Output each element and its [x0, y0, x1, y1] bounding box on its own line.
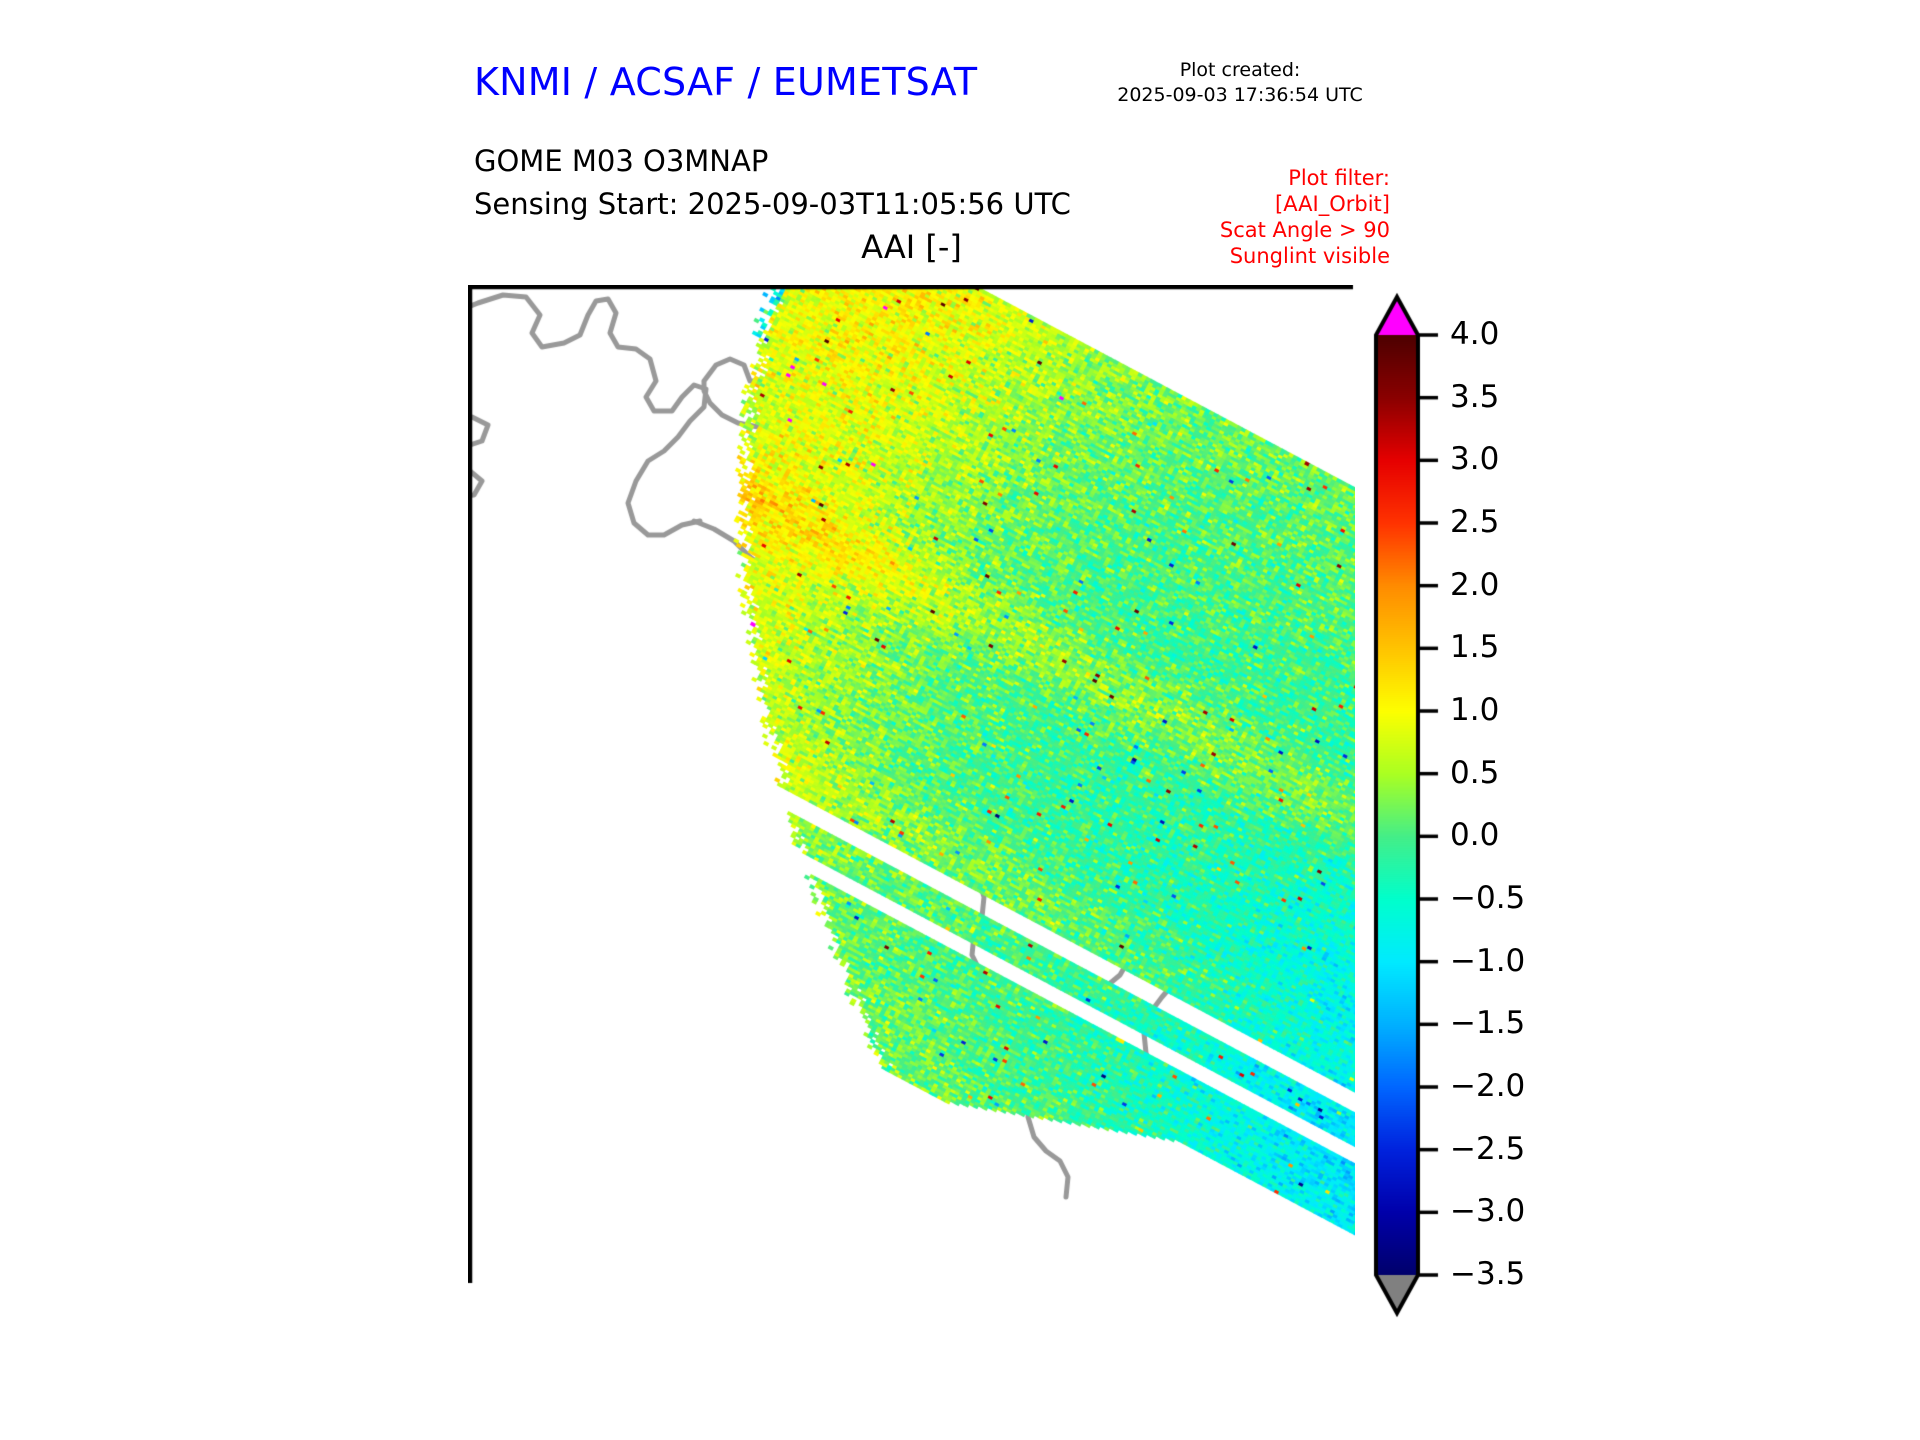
organisation-title: KNMI / ACSAF / EUMETSAT [474, 60, 977, 104]
colorbar: 4.03.53.02.52.01.51.00.50.0−0.5−1.0−1.5−… [1368, 290, 1768, 1365]
colorbar-tick-label: 0.0 [1450, 820, 1499, 851]
dataset-name: GOME M03 O3MNAP [474, 140, 1071, 183]
map-panel [468, 285, 1355, 1285]
plot-created-block: Plot created: 2025-09-03 17:36:54 UTC [1090, 58, 1390, 108]
colorbar-tick-label: 2.5 [1450, 507, 1499, 538]
plot-created-label: Plot created: [1090, 58, 1390, 83]
colorbar-tick-label: −2.5 [1450, 1134, 1525, 1165]
colorbar-tick-label: −2.0 [1450, 1071, 1525, 1102]
colorbar-tick-label: 1.5 [1450, 632, 1499, 663]
dataset-info-block: GOME M03 O3MNAP Sensing Start: 2025-09-0… [474, 140, 1071, 226]
colorbar-tick-label: −3.0 [1450, 1196, 1525, 1227]
colorbar-tick-label: 2.0 [1450, 570, 1499, 601]
plot-filter-name: [AAI_Orbit] [1110, 191, 1390, 217]
colorbar-gradient [1368, 290, 1768, 1365]
colorbar-tick-label: −1.0 [1450, 946, 1525, 977]
colorbar-tick-label: 1.0 [1450, 695, 1499, 726]
colorbar-tick-label: −0.5 [1450, 883, 1525, 914]
plot-filter-label: Plot filter: [1110, 165, 1390, 191]
page-title: AAI [-] [468, 228, 1355, 266]
colorbar-tick-label: −1.5 [1450, 1008, 1525, 1039]
colorbar-tick-label: 0.5 [1450, 758, 1499, 789]
sensing-start: Sensing Start: 2025-09-03T11:05:56 UTC [474, 183, 1071, 226]
plot-created-time: 2025-09-03 17:36:54 UTC [1090, 83, 1390, 108]
colorbar-tick-label: 4.0 [1450, 319, 1499, 350]
colorbar-tick-label: −3.5 [1450, 1259, 1525, 1290]
aai-swath-heatmap [468, 285, 1355, 1285]
colorbar-tick-label: 3.5 [1450, 382, 1499, 413]
colorbar-tick-label: 3.0 [1450, 444, 1499, 475]
